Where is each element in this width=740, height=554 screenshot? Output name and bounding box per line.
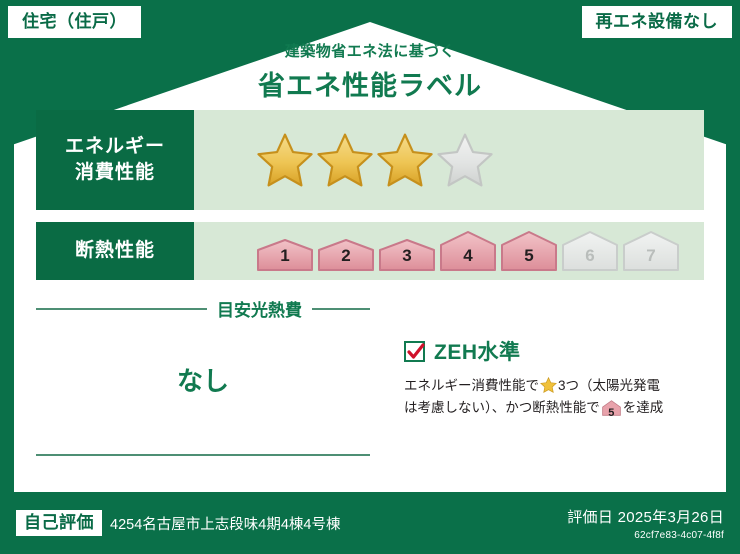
title-subtitle: 建築物省エネ法に基づく <box>0 40 740 61</box>
energy-performance-label: 住宅（住戸） 再エネ設備なし 建築物省エネ法に基づく 省エネ性能ラベル エネルギ… <box>0 0 740 554</box>
insulation-performance-label: 断熱性能 <box>36 222 194 280</box>
utility-cost-bottom-divider <box>36 454 370 456</box>
star-icon-filled <box>256 132 314 188</box>
zeh-checkbox[interactable] <box>404 341 425 362</box>
star-icon-filled <box>316 132 374 188</box>
badge-renewable-energy: 再エネ設備なし <box>582 6 733 38</box>
insulation-level-5: 5 <box>500 230 558 272</box>
zeh-desc-part3: を達成 <box>623 400 664 415</box>
insulation-level-number: 6 <box>561 246 619 266</box>
energy-performance-label: エネルギー 消費性能 <box>36 110 194 210</box>
energy-label-line2: 消費性能 <box>75 160 155 186</box>
footer-right: 評価日 2025年3月26日 62cf7e83-4c07-4f8f <box>567 506 724 541</box>
insulation-level-6: 6 <box>561 230 619 272</box>
footer-left: 自己評価 4254名古屋市上志段味4期4棟4号棟 <box>16 510 567 536</box>
zeh-title-row: ZEH水準 <box>404 336 704 366</box>
insulation-level-7: 7 <box>622 230 680 272</box>
zeh-desc-part1: エネルギー消費性能で <box>404 378 539 393</box>
insulation-level-number: 2 <box>317 246 375 266</box>
title-main: 省エネ性能ラベル <box>0 64 740 103</box>
insulation-performance-row: 断熱性能 1234567 <box>36 222 704 280</box>
property-address: 4254名古屋市上志段味4期4棟4号棟 <box>110 513 340 534</box>
star-rating <box>256 132 494 188</box>
footer: 自己評価 4254名古屋市上志段味4期4棟4号棟 評価日 2025年3月26日 … <box>0 492 740 554</box>
zeh-title: ZEH水準 <box>434 336 521 366</box>
utility-cost-header: 目安光熱費 <box>36 296 370 321</box>
evaluation-date-value: 2025年3月26日 <box>618 509 724 526</box>
utility-cost-title: 目安光熱費 <box>217 296 302 321</box>
insulation-scale: 1234567 <box>256 230 680 272</box>
utility-cost-panel: 目安光熱費 なし <box>36 296 384 484</box>
insulation-level-1: 1 <box>256 238 314 272</box>
insulation-level-number: 5 <box>500 246 558 266</box>
house-icon-inline: 5 <box>602 400 621 423</box>
evaluation-type-badge: 自己評価 <box>16 510 102 536</box>
check-icon <box>407 343 425 361</box>
insulation-level-number: 7 <box>622 246 680 266</box>
insulation-level-2: 2 <box>317 238 375 272</box>
zeh-desc-part2: は考慮しない）、かつ断熱性能で <box>404 400 600 415</box>
zeh-panel: ZEH水準 エネルギー消費性能で3つ（太陽光発電 は考慮しない）、かつ断熱性能で… <box>384 296 704 484</box>
zeh-description: エネルギー消費性能で3つ（太陽光発電 は考慮しない）、かつ断熱性能で5を達成 <box>404 375 704 424</box>
insulation-level-3: 3 <box>378 238 436 272</box>
divider-right <box>312 308 370 310</box>
divider-left <box>36 308 207 310</box>
energy-performance-value <box>194 110 704 210</box>
badge-building-type: 住宅（住戸） <box>8 6 141 38</box>
evaluation-date-label: 評価日 <box>567 509 613 526</box>
insulation-level-number: 1 <box>256 246 314 266</box>
energy-performance-row: エネルギー 消費性能 <box>36 110 704 210</box>
lower-section: 目安光熱費 なし ZEH水準 エネルギー消費性能で3つ（太陽光発電 は考慮しない… <box>36 296 704 484</box>
insulation-level-number: 4 <box>439 246 497 266</box>
inline-house-number: 5 <box>602 404 621 422</box>
metrics-section: エネルギー 消費性能 断熱性能 1234567 <box>36 110 704 292</box>
evaluation-date: 評価日 2025年3月26日 <box>567 506 724 527</box>
zeh-desc-stars: 3つ（太陽光発電 <box>558 378 660 393</box>
evaluation-id: 62cf7e83-4c07-4f8f <box>567 530 724 541</box>
star-icon-filled <box>376 132 434 188</box>
utility-cost-value: なし <box>36 361 370 398</box>
page-title: 建築物省エネ法に基づく 省エネ性能ラベル <box>0 40 740 103</box>
star-icon-inline <box>540 377 557 393</box>
star-icon-empty <box>436 132 494 188</box>
energy-label-line1: エネルギー <box>65 134 165 160</box>
insulation-level-number: 3 <box>378 246 436 266</box>
insulation-level-4: 4 <box>439 230 497 272</box>
insulation-performance-value: 1234567 <box>194 222 704 280</box>
